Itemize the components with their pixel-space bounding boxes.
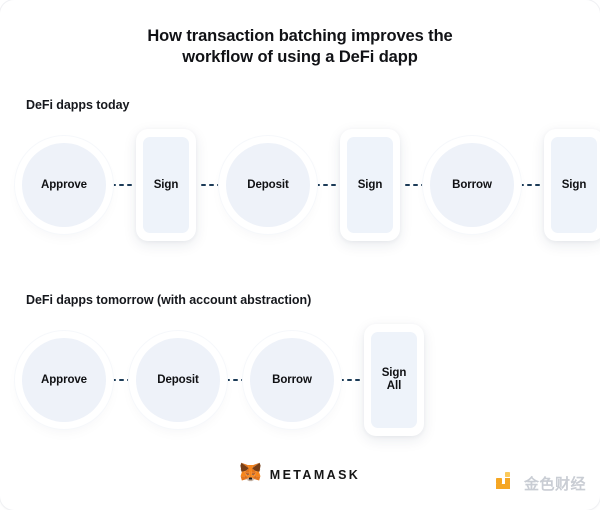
connector-dash [111,184,116,186]
connector-dash [323,184,328,186]
flow-node-label: Approve [41,179,87,191]
connector-dash [111,379,116,381]
flow-connector [220,370,250,390]
flow-node-borrow-tomorrow[interactable]: Borrow [250,338,334,422]
flow-node-approve-today[interactable]: Approve [22,143,106,227]
flow-node-label: Sign All [382,367,407,393]
flow-node-sign-3-today[interactable]: Sign [544,129,600,241]
connector-dash [405,184,410,186]
infographic-card: How transaction batching improves the wo… [0,0,600,510]
flow-node-approve-tomorrow[interactable]: Approve [22,338,106,422]
flow-node-label: Deposit [247,179,288,191]
flow-node-sign-2-today[interactable]: Sign [340,129,400,241]
connector-dash [347,379,352,381]
flow-connector [106,370,136,390]
flow-connector [400,175,430,195]
watermark-text: 金色财经 [524,473,586,494]
flow-node-label: Approve [41,374,87,386]
section-heading-today: DeFi dapps today [26,98,129,112]
connector-dash [421,184,426,186]
jinse-logo-icon [493,469,517,498]
flow-node-label: Deposit [157,374,198,386]
connector-dash [217,184,222,186]
title-line-2: workflow of using a DeFi dapp [0,47,600,68]
connector-dash [355,379,360,381]
flow-connector [514,175,544,195]
connector-dash [519,184,524,186]
watermark: 金色财经 [493,469,586,498]
flow-connector [106,175,136,195]
connector-dash [339,379,344,381]
connector-dash [127,379,132,381]
connector-dash [413,184,418,186]
brand-wordmark: METAMASK [270,468,361,482]
flow-row-tomorrow: Approve Deposit Borrow Sign All [22,315,422,445]
connector-dash [127,184,132,186]
flow-node-sign-1-today[interactable]: Sign [136,129,196,241]
flow-node-label: Sign [358,179,383,192]
flow-node-label: Borrow [272,374,312,386]
connector-dash [119,379,124,381]
flow-node-label: Sign [154,179,179,192]
connector-dash [201,184,206,186]
flow-node-sign-all-tomorrow[interactable]: Sign All [364,324,424,436]
flow-node-deposit-tomorrow[interactable]: Deposit [136,338,220,422]
connector-dash [527,184,532,186]
connector-dash [315,184,320,186]
connector-dash [535,184,540,186]
flow-node-label: Sign [562,179,587,192]
flow-node-borrow-today[interactable]: Borrow [430,143,514,227]
connector-dash [241,379,246,381]
connector-dash [209,184,214,186]
flow-node-label: Borrow [452,179,492,191]
connector-dash [331,184,336,186]
connector-dash [233,379,238,381]
section-heading-tomorrow: DeFi dapps tomorrow (with account abstra… [26,293,311,307]
flow-connector [334,370,364,390]
metamask-fox-icon [240,462,261,487]
flow-connector [310,175,340,195]
flow-connector [196,175,226,195]
flow-node-deposit-today[interactable]: Deposit [226,143,310,227]
connector-dash [119,184,124,186]
title-line-1: How transaction batching improves the [0,26,600,47]
flow-row-today: Approve Sign Deposit Sign [22,120,582,250]
connector-dash [225,379,230,381]
page-title: How transaction batching improves the wo… [0,26,600,68]
